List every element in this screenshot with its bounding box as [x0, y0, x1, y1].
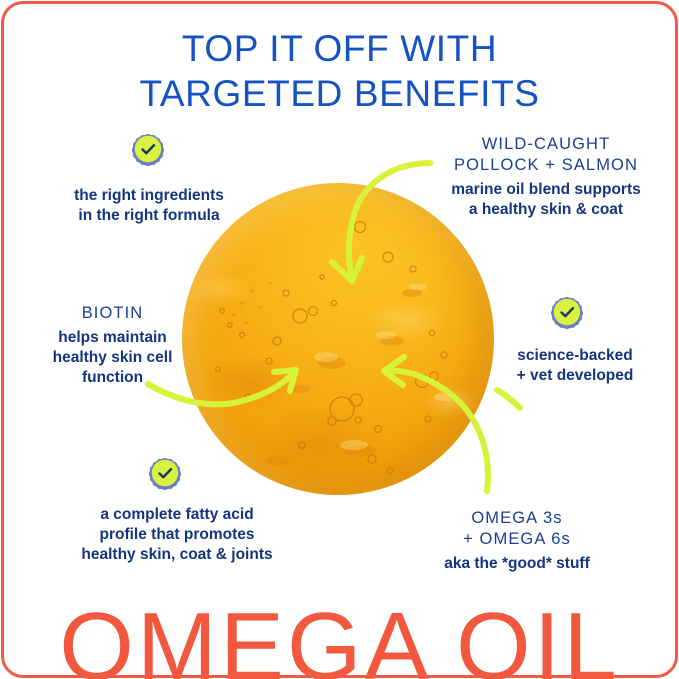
callout-ingredients-line-1: the right ingredients	[28, 186, 270, 206]
page-title-line-1: TOP IT OFF WITH	[0, 26, 679, 71]
page-title-line-2: TARGETED BENEFITS	[0, 71, 679, 116]
callout-science-line-2: + vet developed	[481, 366, 669, 386]
callout-biotin: BIOTIN helps maintain healthy skin cell …	[20, 303, 205, 389]
callout-fatty-line-1: a complete fatty acid	[48, 505, 306, 525]
oil-bubbles	[182, 183, 494, 495]
callout-omega-heading-1: OMEGA 3s	[406, 508, 628, 529]
check-badge-icon	[148, 457, 182, 491]
callout-fatty-acid: a complete fatty acid profile that promo…	[48, 505, 306, 565]
callout-biotin-heading: BIOTIN	[20, 303, 205, 324]
callout-biotin-line-2: healthy skin cell	[20, 348, 205, 368]
callout-omega-3-6: OMEGA 3s + OMEGA 6s aka the *good* stuff	[406, 508, 628, 574]
callout-science-backed: science-backed + vet developed	[481, 346, 669, 386]
infographic-page: TOP IT OFF WITH TARGETED BENEFITS	[0, 0, 679, 679]
callout-pollock-heading-1: WILD-CAUGHT	[422, 134, 670, 155]
callout-biotin-line-3: function	[20, 368, 205, 388]
callout-fatty-line-2: profile that promotes	[48, 525, 306, 545]
page-title: TOP IT OFF WITH TARGETED BENEFITS	[0, 26, 679, 116]
callout-fatty-line-3: healthy skin, coat & joints	[48, 545, 306, 565]
callout-science-line-1: science-backed	[481, 346, 669, 366]
omega-oil-wordmark: OMEGA OIL	[0, 601, 679, 679]
callout-ingredients-line-2: in the right formula	[28, 206, 270, 226]
check-badge-fatty-acid	[148, 457, 182, 491]
omega-oil-droplet-image	[182, 183, 494, 495]
callout-biotin-line-1: helps maintain	[20, 328, 205, 348]
callout-pollock-line-2: a healthy skin & coat	[422, 200, 670, 220]
callout-pollock-salmon: WILD-CAUGHT POLLOCK + SALMON marine oil …	[422, 134, 670, 221]
callout-pollock-heading-2: POLLOCK + SALMON	[422, 155, 670, 176]
callout-right-ingredients: the right ingredients in the right formu…	[28, 186, 270, 226]
check-badge-icon	[550, 296, 584, 330]
check-badge-science	[550, 296, 584, 330]
callout-omega-line-1: aka the *good* stuff	[406, 554, 628, 574]
callout-pollock-line-1: marine oil blend supports	[422, 180, 670, 200]
arrow-science	[497, 390, 520, 408]
check-badge-ingredients	[131, 133, 165, 167]
callout-omega-heading-2: + OMEGA 6s	[406, 529, 628, 550]
check-badge-icon	[131, 133, 165, 167]
